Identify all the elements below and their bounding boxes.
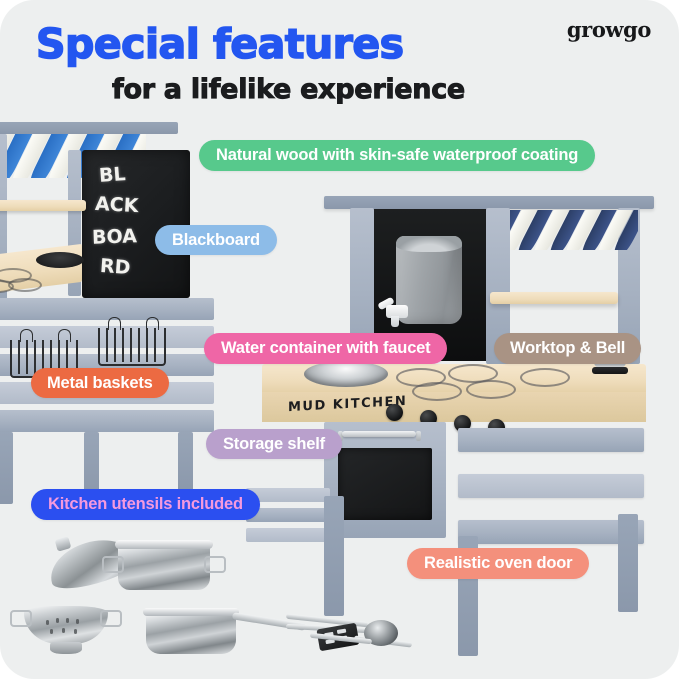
chalk-line-2: ACK [94, 193, 138, 217]
left-slat-1 [0, 298, 214, 320]
feature-label-natural-wood: Natural wood with skin-safe waterproof c… [199, 140, 595, 171]
mud-kitchen-left-unit: BL ACK BOA RD [0, 122, 230, 542]
feature-label-blackboard: Blackboard [155, 225, 277, 255]
chalkboard-panel-left: BL ACK BOA RD [82, 150, 190, 298]
chalk-line-4: RD [99, 255, 131, 279]
right-unit-leg-c [618, 514, 638, 612]
wire-basket-right [98, 328, 166, 366]
stove-knob-1[interactable] [386, 404, 403, 421]
faucet-icon [378, 300, 408, 326]
left-sink-basin [36, 252, 84, 268]
feature-label-worktop-bell: Worktop & Bell [494, 333, 641, 364]
feature-label-kitchen-utensils: Kitchen utensils included [31, 489, 260, 520]
right-upper-shelf [490, 292, 618, 304]
left-upper-shelf [0, 200, 86, 211]
burner-ring-5 [520, 368, 570, 387]
content-card: BL ACK BOA RD [0, 0, 679, 679]
kitchen-utensils-group [18, 524, 378, 670]
infographic-canvas: BL ACK BOA RD [0, 0, 679, 679]
chalk-line-3: BOA [92, 225, 138, 249]
left-leg-a [0, 432, 13, 504]
right-side-slat-3 [458, 520, 644, 544]
chalk-line-1: BL [98, 163, 126, 187]
right-side-slat-2 [458, 474, 644, 498]
feature-label-water-container: Water container with faucet [204, 333, 447, 364]
left-roof-board [0, 122, 178, 134]
ladle-icon [336, 620, 416, 650]
oven-door-glass-panel [338, 448, 432, 520]
left-slat-5 [0, 410, 214, 432]
burner-ring-3 [412, 382, 462, 401]
feature-label-metal-baskets: Metal baskets [31, 368, 169, 398]
colander-icon [24, 606, 108, 654]
cooking-pot-icon [118, 544, 210, 590]
right-side-slat-1 [458, 428, 644, 452]
sink-basin-icon [304, 361, 388, 387]
feature-label-oven-door: Realistic oven door [407, 548, 589, 579]
burner-ring-4 [466, 380, 516, 399]
frying-pan-icon [146, 612, 236, 654]
feature-label-storage-shelf: Storage shelf [206, 429, 342, 459]
left-leg-c [178, 432, 193, 492]
oven-handle-icon[interactable] [342, 431, 416, 437]
right-awning-striped [510, 210, 638, 250]
